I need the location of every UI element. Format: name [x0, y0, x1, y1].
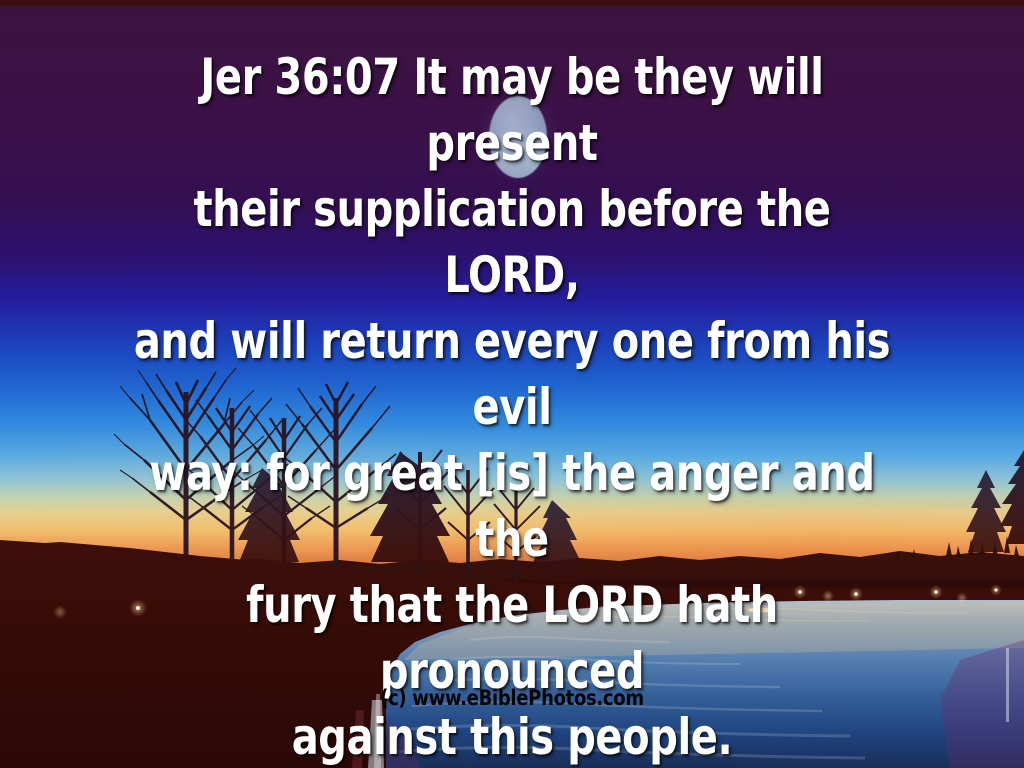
watermark-credit: (c) www.eBiblePhotos.com — [72, 686, 953, 710]
verse-text: Jer 36:07 It may be they will present th… — [102, 44, 921, 768]
verse-image-canvas: Jer 36:07 It may be they will present th… — [0, 0, 1024, 768]
